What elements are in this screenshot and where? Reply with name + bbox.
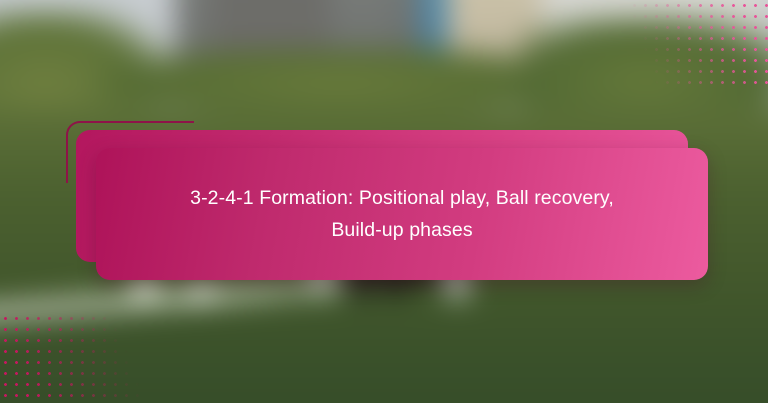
tree-middle xyxy=(100,48,580,118)
banner-hero: 3-2-4-1 Formation: Positional play, Ball… xyxy=(0,0,768,403)
banner-title: 3-2-4-1 Formation: Positional play, Ball… xyxy=(167,182,637,246)
banner-card-front: 3-2-4-1 Formation: Positional play, Ball… xyxy=(96,148,708,280)
soccer-ball-2 xyxy=(188,280,216,304)
